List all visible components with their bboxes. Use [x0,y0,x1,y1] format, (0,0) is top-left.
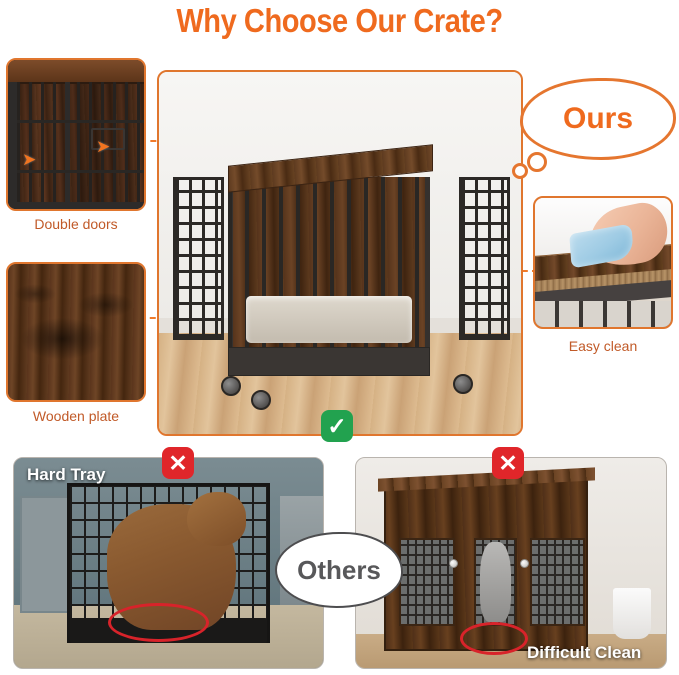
cross-icon: ✕ [168,452,187,475]
feature-label-easy-clean: Easy clean [525,338,679,354]
potted-plant-leaves [595,521,663,592]
bubble-ours-tail-dot-small [512,163,528,179]
red-x-badge-difficult-clean: ✕ [492,447,524,479]
feature-panel-easy-clean[interactable] [533,196,673,329]
page-title: Why Choose Our Crate? [41,2,639,40]
pointer-arrow-icon-right: ➤ [96,138,110,155]
bubble-ours-text: Ours [563,102,633,136]
crate-cushion [246,296,413,343]
feature-panel-wooden-plate[interactable] [6,262,146,402]
cross-icon: ✕ [498,452,517,475]
crate-horizontal-bar-upper [17,120,144,123]
hard-tray-background-shelf [20,496,69,614]
crate-side-door-left [173,177,224,340]
wooden-plate-texture [8,264,144,400]
highlight-ellipse-difficult-clean [460,622,528,655]
highlight-ellipse-hard-tray [108,603,209,642]
crate-base-frame [228,347,431,376]
bubble-ours-tail-dot-large [527,152,547,172]
cabinet-wire-door-right [530,538,586,626]
feature-label-wooden-plate: Wooden plate [0,408,152,424]
red-x-badge-hard-tray: ✕ [162,447,194,479]
feature-panel-double-doors[interactable]: ➤ ➤ [6,58,146,211]
cabinet-wire-door-left [399,538,455,626]
check-icon: ✓ [327,415,346,438]
feature-label-double-doors: Double doors [0,216,152,232]
crate-door-divider [65,82,70,202]
comparison-caption-hard-tray: Hard Tray [27,465,105,485]
potted-plant-pot [613,588,650,638]
crate-horizontal-bar-lower [17,170,144,173]
caster-wheel-front-right [251,390,271,410]
bubble-others-text: Others [297,555,381,586]
caster-wheel-back-right [453,374,473,394]
hero-panel-our-crate[interactable] [157,70,523,436]
crate-side-door-right [459,177,510,340]
crate-wood-top [8,60,144,84]
green-check-badge: ✓ [321,410,353,442]
dog-head [187,492,246,547]
bubble-others: Others [275,532,403,608]
comparison-caption-difficult-clean: Difficult Clean [527,643,641,663]
cabinet-knob-left [449,559,458,568]
pointer-arrow-icon-left: ➤ [22,151,36,168]
bubble-ours: Ours [520,78,676,160]
dog-inside-cabinet [480,542,511,622]
easy-clean-wire-bars [535,301,671,327]
caster-wheel-front-left [221,376,241,396]
